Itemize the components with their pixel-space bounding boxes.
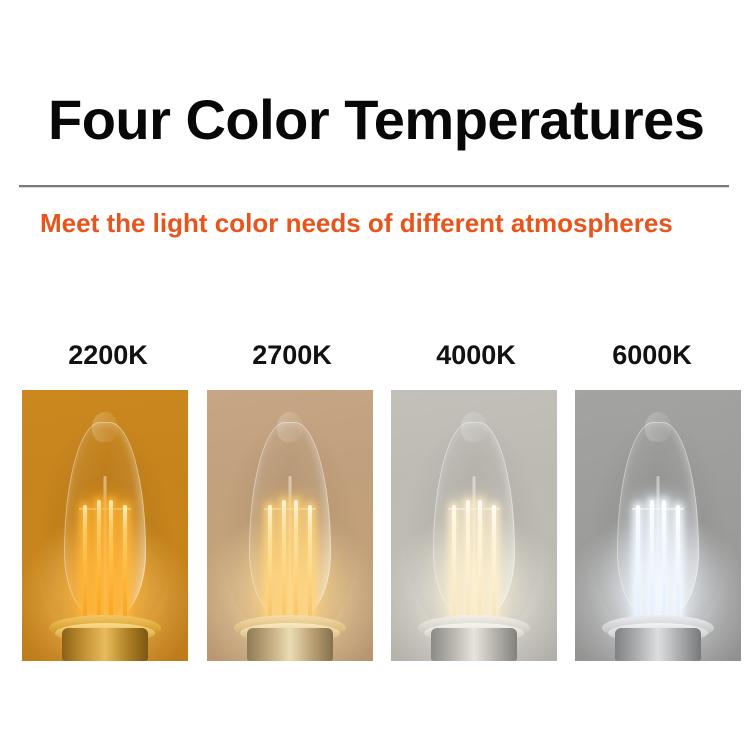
kelvin-label-4000k: 4000K <box>428 340 524 371</box>
candle-bulb <box>598 416 718 661</box>
filament-strip <box>662 500 666 622</box>
filament-strip <box>466 500 470 622</box>
header-divider <box>19 185 729 187</box>
base-body <box>247 628 333 661</box>
filament-strip <box>308 505 312 620</box>
kelvin-label-6000k: 6000K <box>604 340 700 371</box>
candle-bulb <box>230 416 350 661</box>
bulb-photo-2200k <box>22 390 188 661</box>
bulb-photo-4000k <box>391 390 557 661</box>
filament-group <box>262 500 318 622</box>
base-body <box>431 628 517 661</box>
base-body <box>615 628 701 661</box>
filament-strip <box>636 505 640 620</box>
filament-strip <box>478 500 482 622</box>
filament-strip <box>268 505 272 620</box>
bulb-base <box>49 609 161 661</box>
bulb-photo-2700k <box>207 390 373 661</box>
bulb-photo-6000k <box>575 390 741 661</box>
candle-bulb <box>45 416 165 661</box>
bulb-photo-row <box>0 390 750 662</box>
base-body <box>62 628 148 661</box>
candle-bulb <box>414 416 534 661</box>
filament-strip <box>109 500 113 622</box>
filament-strip <box>452 505 456 620</box>
filament-group <box>77 500 133 622</box>
filament-strip <box>492 505 496 620</box>
bulb-base <box>418 609 530 661</box>
bulb-base <box>234 609 346 661</box>
page-title: Four Color Temperatures <box>48 92 708 148</box>
filament-strip <box>97 500 101 622</box>
filament-group <box>630 500 686 622</box>
kelvin-label-2700k: 2700K <box>244 340 340 371</box>
bulb-base <box>602 609 714 661</box>
filament-strip <box>650 500 654 622</box>
filament-strip <box>294 500 298 622</box>
filament-strip <box>282 500 286 622</box>
kelvin-label-row: 2200K 2700K 4000K 6000K <box>0 340 750 374</box>
page-subtitle: Meet the light color needs of different … <box>40 210 730 236</box>
infographic-page: Four Color Temperatures Meet the light c… <box>0 0 750 750</box>
filament-strip <box>123 505 127 620</box>
filament-group <box>446 500 502 622</box>
filament-strip <box>676 505 680 620</box>
filament-strip <box>83 505 87 620</box>
kelvin-label-2200k: 2200K <box>60 340 156 371</box>
